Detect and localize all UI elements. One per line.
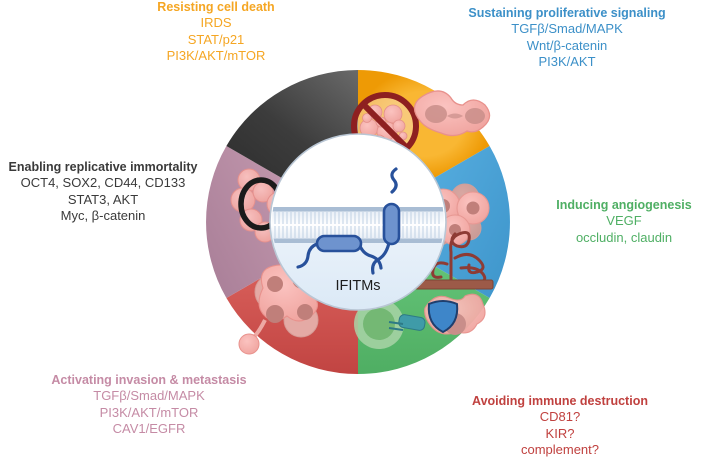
- hallmark-title: Avoiding immune destruction: [441, 394, 679, 409]
- hallmark-gene: VEGF: [536, 213, 712, 230]
- hallmark-label-enabling-replicative-immortality: Enabling replicative immortality OCT4, S…: [6, 160, 200, 225]
- hallmark-gene: occludin, claudin: [536, 230, 712, 247]
- hallmark-gene: STAT/p21: [146, 32, 286, 49]
- hallmark-gene: CD81?: [441, 409, 679, 426]
- hallmark-gene: complement?: [441, 442, 679, 459]
- hallmark-gene: TGFβ/Smad/MAPK: [447, 21, 687, 38]
- hallmarks-wheel: IFITMs: [203, 52, 513, 392]
- ifitm-protein-left-body: [317, 236, 361, 251]
- ifitm-protein-right-body: [384, 204, 399, 244]
- hallmark-label-inducing-angiogenesis: Inducing angiogenesis VEGF occludin, cla…: [536, 198, 712, 246]
- hallmark-title: Inducing angiogenesis: [536, 198, 712, 213]
- hallmark-title: Resisting cell death: [146, 0, 286, 15]
- hallmark-title: Enabling replicative immortality: [6, 160, 200, 175]
- hallmark-gene: KIR?: [441, 426, 679, 443]
- hallmark-gene: Myc, β-catenin: [6, 208, 200, 225]
- center-label: IFITMs: [335, 278, 380, 294]
- hallmark-gene: PI3K/AKT/mTOR: [36, 405, 262, 422]
- hallmark-gene: CAV1/EGFR: [36, 421, 262, 438]
- hallmark-gene: STAT3, AKT: [6, 192, 200, 209]
- hallmark-gene: OCT4, SOX2, CD44, CD133: [6, 175, 200, 192]
- hallmark-title: Sustaining proliferative signaling: [447, 6, 687, 21]
- hallmark-label-avoiding-immune-destruction: Avoiding immune destruction CD81? KIR? c…: [441, 394, 679, 459]
- hallmark-gene: IRDS: [146, 15, 286, 32]
